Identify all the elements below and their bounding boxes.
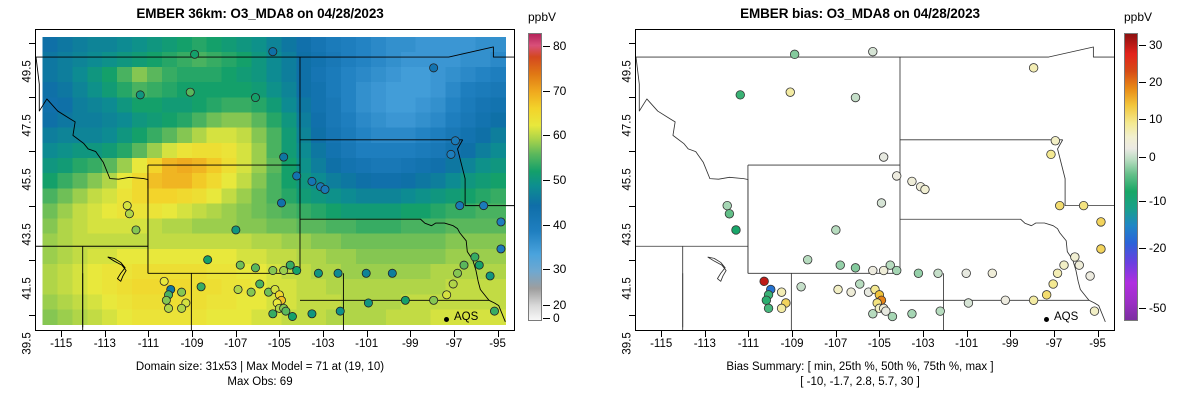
y-tick <box>29 315 35 316</box>
bias-point <box>1001 296 1010 305</box>
x-tick-label: -109 <box>781 338 804 350</box>
observation-point <box>269 48 277 56</box>
x-tick-label: -97 <box>1046 338 1063 350</box>
x-tick <box>705 331 706 337</box>
observation-point <box>288 312 296 320</box>
x-tick-label: -95 <box>1089 338 1106 350</box>
y-tick <box>629 43 635 44</box>
x-tick <box>1054 331 1055 337</box>
bias-point <box>892 172 901 181</box>
y-tick <box>29 260 35 261</box>
bias-point <box>936 307 945 316</box>
colorbar-tick-label: 70 <box>553 84 566 98</box>
caption-line2-model: Max Obs: 69 <box>0 375 520 390</box>
bias-point <box>962 269 971 278</box>
x-tick <box>498 331 499 337</box>
colorbar-tick-label: 20 <box>553 298 566 312</box>
observation-point <box>451 137 459 145</box>
aqs-legend-label-bias: AQS <box>1054 311 1078 323</box>
x-tick-label: -115 <box>650 338 672 350</box>
bias-point <box>888 312 897 321</box>
bias-point <box>1097 245 1106 254</box>
observation-point <box>308 310 316 318</box>
colorbar-tick <box>1139 248 1146 249</box>
colorbar-tick <box>543 225 550 226</box>
x-tick <box>967 331 968 337</box>
x-tick-label: -99 <box>402 338 419 350</box>
bias-point <box>1060 261 1069 270</box>
bias-point <box>1047 150 1056 159</box>
x-tick <box>1010 331 1011 337</box>
y-tick-label: 49.5 <box>621 60 633 82</box>
x-tick <box>454 331 455 337</box>
colorbar-tick <box>543 135 550 136</box>
colorbar-tick <box>543 91 550 92</box>
x-tick-label: -115 <box>50 338 72 350</box>
observation-point <box>490 307 498 315</box>
x-tick-label: -99 <box>1002 338 1019 350</box>
bias-point <box>1051 136 1060 145</box>
bias-point <box>1049 280 1058 289</box>
observation-point <box>236 261 244 269</box>
y-tick-label: 39.5 <box>621 332 633 354</box>
y-tick-label: 41.5 <box>621 277 633 299</box>
bias-point <box>834 285 843 294</box>
map-frame-model: AQS <box>35 29 515 331</box>
map-bias-svg <box>636 30 1114 330</box>
x-tick <box>792 331 793 337</box>
observation-point <box>280 153 288 161</box>
x-tick <box>61 331 62 337</box>
colorbar-tick <box>543 180 550 181</box>
bias-point <box>725 210 734 219</box>
bias-point <box>847 288 856 297</box>
y-tick-label: 43.5 <box>621 223 633 245</box>
y-tick <box>629 315 635 316</box>
observation-point <box>475 261 483 269</box>
observation-point <box>401 296 409 304</box>
x-tick-label: -97 <box>446 338 463 350</box>
observation-point <box>497 245 505 253</box>
observation-point <box>234 285 242 293</box>
observation-point <box>197 283 205 291</box>
observation-point <box>178 288 186 296</box>
y-tick-label: 43.5 <box>21 223 33 245</box>
colorbar-tick <box>1139 119 1146 120</box>
x-tick <box>236 331 237 337</box>
observation-point <box>456 202 464 210</box>
bias-point <box>777 304 786 313</box>
observation-point <box>132 226 140 234</box>
x-tick-label: -103 <box>911 338 934 350</box>
x-tick <box>748 331 749 337</box>
panel-model: EMBER 36km: O3_MDA8 on 04/28/2023 AQS -1… <box>0 0 600 409</box>
bias-point <box>790 50 799 59</box>
aqs-legend-dot-model <box>444 317 449 322</box>
colorbar-tick-label: 80 <box>553 39 566 53</box>
caption-bias: Bias Summary: [ min, 25th %, 50th %, 75t… <box>600 360 1120 390</box>
figure-root: EMBER 36km: O3_MDA8 on 04/28/2023 AQS -1… <box>0 0 1200 409</box>
colorbar-tick-label: -10 <box>1149 194 1166 208</box>
observation-point <box>269 310 277 318</box>
colorbar-tick-label: 30 <box>553 262 566 276</box>
y-tick-label: 49.5 <box>21 60 33 82</box>
observation-point <box>280 266 288 274</box>
y-tick-label: 45.5 <box>21 169 33 191</box>
y-tick <box>29 151 35 152</box>
y-tick <box>29 43 35 44</box>
bias-point <box>1042 291 1051 300</box>
colorbar-tick-label: 20 <box>1149 75 1162 89</box>
caption-model: Domain size: 31x53 | Max Model = 71 at (… <box>0 360 520 390</box>
bias-point <box>1079 201 1088 210</box>
observation-point <box>460 261 468 269</box>
bias-point <box>797 283 806 292</box>
colorbar-tick <box>543 305 550 306</box>
observation-point <box>447 150 455 158</box>
observation-point <box>334 269 342 277</box>
observation-point <box>247 288 255 296</box>
bias-point <box>1053 269 1062 278</box>
colorbar-tick-label: 40 <box>553 218 566 232</box>
observation-point <box>364 299 372 307</box>
bias-point <box>723 201 732 210</box>
bias-point <box>1086 272 1095 281</box>
bias-point <box>892 266 901 275</box>
aqs-legend-dot-bias <box>1044 317 1049 322</box>
colorbar-tick-label: 0 <box>1149 150 1156 164</box>
y-tick <box>629 151 635 152</box>
bias-point <box>934 269 943 278</box>
observation-point <box>191 50 199 58</box>
observation-point <box>282 307 290 315</box>
aqs-legend-label-model: AQS <box>454 311 478 323</box>
bias-point <box>1097 218 1106 227</box>
model-raster <box>43 37 506 325</box>
observation-point <box>204 256 212 264</box>
bias-point <box>914 269 923 278</box>
observation-point <box>471 253 479 261</box>
observation-point <box>443 291 451 299</box>
bias-point <box>908 310 917 319</box>
observation-point <box>453 269 461 277</box>
observation-point <box>480 202 488 210</box>
bias-point <box>1071 253 1080 262</box>
colorbar-tick <box>1139 157 1146 158</box>
observation-point <box>497 218 505 226</box>
observation-point <box>314 269 322 277</box>
bias-point <box>736 91 745 100</box>
observation-point <box>362 269 370 277</box>
x-tick <box>367 331 368 337</box>
y-tick-label: 45.5 <box>621 169 633 191</box>
bias-point <box>803 255 812 264</box>
caption-line2-bias: [ -10, -1.7, 2.8, 5.7, 30 ] <box>600 375 1120 390</box>
y-tick-label: 39.5 <box>21 332 33 354</box>
bias-point <box>879 153 888 162</box>
observation-point <box>251 264 259 272</box>
x-tick <box>105 331 106 337</box>
observation-point <box>321 185 329 193</box>
colorbar-tick <box>1139 201 1146 202</box>
bias-point <box>777 288 786 297</box>
colorbar-tick <box>543 269 550 270</box>
bias-point <box>908 177 917 186</box>
x-tick-label: -107 <box>224 338 247 350</box>
colorbar-gradient-model <box>528 33 542 321</box>
x-tick <box>836 331 837 337</box>
observation-point <box>308 177 316 185</box>
colorbar-gradient-bias <box>1124 33 1138 321</box>
colorbar-tick <box>1139 45 1146 46</box>
bias-point <box>1075 261 1084 270</box>
bias-point <box>855 280 864 289</box>
bias-point <box>869 310 878 319</box>
map-frame-bias: AQS <box>635 29 1115 331</box>
bias-point <box>786 88 795 97</box>
observation-point <box>336 307 344 315</box>
colorbar-bias: ppbV 3020100-10-20-50 <box>1118 29 1200 331</box>
x-tick <box>148 331 149 337</box>
observation-point <box>449 280 457 288</box>
x-tick <box>923 331 924 337</box>
y-tick-label: 41.5 <box>21 277 33 299</box>
observation-point <box>160 277 168 285</box>
bias-point <box>1029 296 1038 305</box>
y-axis-model: 39.541.543.545.547.549.5 <box>0 29 35 331</box>
bias-point <box>869 266 878 275</box>
y-tick <box>629 260 635 261</box>
colorbar-unit-model: ppbV <box>528 10 556 24</box>
bias-point <box>1029 64 1038 73</box>
x-tick-label: -101 <box>355 338 378 350</box>
colorbar-tick-label: 60 <box>553 128 566 142</box>
colorbar-tick-label: -20 <box>1149 241 1166 255</box>
y-tick <box>629 206 635 207</box>
observation-point <box>232 226 240 234</box>
observation-point <box>125 210 133 218</box>
x-tick-label: -111 <box>138 338 159 350</box>
observation-point <box>388 269 396 277</box>
observation-point <box>178 304 186 312</box>
observation-point <box>430 64 438 72</box>
colorbar-unit-bias: ppbV <box>1124 10 1152 24</box>
colorbar-tick-label: 10 <box>1149 112 1162 126</box>
bias-point <box>762 296 771 305</box>
observation-point <box>430 296 438 304</box>
bias-point <box>964 299 973 308</box>
panel-bias: EMBER bias: O3_MDA8 on 04/28/2023 AQS -1… <box>600 0 1200 409</box>
bias-point <box>851 264 860 273</box>
bias-point <box>836 261 845 270</box>
bias-point <box>760 277 769 286</box>
bias-point <box>732 226 741 235</box>
observation-point <box>256 280 264 288</box>
x-tick <box>192 331 193 337</box>
bias-point <box>921 185 930 194</box>
x-tick-label: -107 <box>824 338 847 350</box>
x-tick-label: -109 <box>181 338 204 350</box>
observation-point <box>164 304 172 312</box>
observation-point <box>486 272 494 280</box>
x-axis-bias: -115-113-111-109-107-105-103-101-99-97-9… <box>635 331 1115 357</box>
colorbar-tick-label: 50 <box>553 173 566 187</box>
x-tick <box>661 331 662 337</box>
caption-line1-model: Domain size: 31x53 | Max Model = 71 at (… <box>0 360 520 375</box>
x-tick-label: -113 <box>94 338 116 350</box>
colorbar-tick-label: 0 <box>553 311 560 325</box>
bias-point <box>1055 201 1064 210</box>
colorbar-tick-label: 30 <box>1149 38 1162 52</box>
x-tick <box>410 331 411 337</box>
x-tick <box>279 331 280 337</box>
colorbar-tick <box>543 46 550 47</box>
panel-title-model: EMBER 36km: O3_MDA8 on 04/28/2023 <box>0 6 520 21</box>
y-tick-label: 47.5 <box>21 114 33 136</box>
x-tick <box>1098 331 1099 337</box>
bias-point <box>851 93 860 102</box>
x-tick-label: -101 <box>955 338 978 350</box>
observation-point <box>186 88 194 96</box>
bias-point <box>1090 307 1099 316</box>
y-axis-bias: 39.541.543.545.547.549.5 <box>600 29 635 331</box>
x-tick <box>323 331 324 337</box>
x-tick-label: -105 <box>268 338 291 350</box>
x-axis-model: -115-113-111-109-107-105-103-101-99-97-9… <box>35 331 515 357</box>
bias-point <box>869 47 878 56</box>
y-tick-label: 47.5 <box>621 114 633 136</box>
bias-point <box>764 304 773 313</box>
x-tick <box>879 331 880 337</box>
colorbar-model: ppbV 807060504030200 <box>522 29 608 331</box>
x-tick-label: -95 <box>489 338 506 350</box>
observation-point <box>136 91 144 99</box>
colorbar-tick-label: -50 <box>1149 301 1166 315</box>
observation-point <box>251 93 259 101</box>
y-tick <box>29 206 35 207</box>
colorbar-tick <box>1139 308 1146 309</box>
bias-point <box>832 226 841 235</box>
y-tick <box>29 97 35 98</box>
x-tick-label: -111 <box>738 338 759 350</box>
observation-point <box>162 296 170 304</box>
observation-point <box>277 199 285 207</box>
observation-point <box>269 266 277 274</box>
x-tick-label: -113 <box>694 338 716 350</box>
x-tick-label: -105 <box>868 338 891 350</box>
observation-point <box>123 202 131 210</box>
x-tick-label: -103 <box>311 338 334 350</box>
panel-title-bias: EMBER bias: O3_MDA8 on 04/28/2023 <box>600 6 1120 21</box>
observation-point <box>293 266 301 274</box>
caption-line1-bias: Bias Summary: [ min, 25th %, 50th %, 75t… <box>600 360 1120 375</box>
bias-point <box>988 269 997 278</box>
observation-point <box>293 172 301 180</box>
bias-point <box>877 199 886 208</box>
colorbar-tick <box>543 318 550 319</box>
y-tick <box>629 97 635 98</box>
colorbar-tick <box>1139 82 1146 83</box>
map-model-svg <box>36 30 514 330</box>
